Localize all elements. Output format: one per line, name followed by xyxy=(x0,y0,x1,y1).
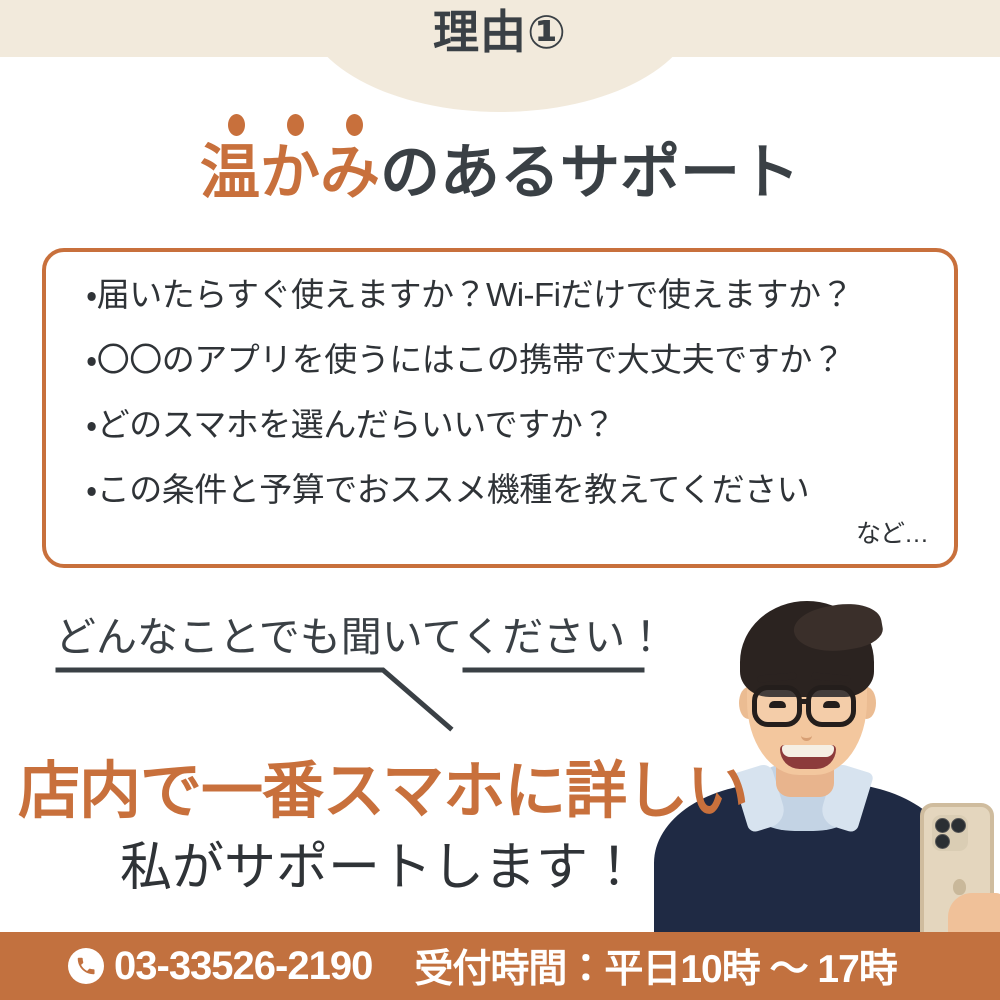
business-hours: 受付時間：平日10時 〜 17時 xyxy=(414,938,896,994)
emphasis-dot-2 xyxy=(287,114,304,136)
mouth xyxy=(780,745,836,769)
eye-left xyxy=(769,701,786,708)
camera-lens xyxy=(935,834,950,849)
headline-primary: 店内で一番スマホに詳しい xyxy=(18,740,748,830)
camera-lens xyxy=(935,818,950,833)
teeth xyxy=(782,745,834,757)
question-list: ・届いたらすぐ使えますか？Wi-Fiだけで使えますか？ ・〇〇のアプリを使うには… xyxy=(86,278,934,506)
reason-badge-label: 理由① xyxy=(0,8,1000,56)
speech-bubble-tail xyxy=(45,660,665,736)
main-heading-rest: のあるサポート xyxy=(380,139,800,206)
etcetera-note: など… xyxy=(856,514,928,550)
list-item: ・〇〇のアプリを使うにはこの携帯で大丈夫ですか？ xyxy=(86,343,934,376)
phone-number[interactable]: 03-33526-2190 xyxy=(114,944,372,989)
emphasis-dot-3 xyxy=(346,114,363,136)
headline-secondary: 私がサポートします！ xyxy=(120,825,640,900)
list-item: ・どのスマホを選んだらいいですか？ xyxy=(86,408,934,441)
phone-icon xyxy=(68,948,104,984)
footer-bar: 03-33526-2190 受付時間：平日10時 〜 17時 xyxy=(0,932,1000,1000)
emphasis-dots xyxy=(228,114,408,138)
question-box: ・届いたらすぐ使えますか？Wi-Fiだけで使えますか？ ・〇〇のアプリを使うには… xyxy=(42,248,958,568)
main-heading: 温かみのあるサポート xyxy=(0,140,1000,206)
camera-module xyxy=(932,815,968,851)
list-item: ・届いたらすぐ使えますか？Wi-Fiだけで使えますか？ xyxy=(86,278,934,311)
emphasis-dot-1 xyxy=(228,114,245,136)
callout-sub-line: どんなことでも聞いてください！ xyxy=(55,603,666,663)
camera-lens xyxy=(951,818,966,833)
footer-content: 03-33526-2190 受付時間：平日10時 〜 17時 xyxy=(68,938,897,994)
main-heading-accent: 温かみ xyxy=(200,139,380,206)
nose xyxy=(801,725,812,741)
eye-right xyxy=(823,701,840,708)
glasses-bridge xyxy=(800,699,810,704)
list-item: ・この条件と予算でおススメ機種を教えてください xyxy=(86,473,934,506)
poster-root: 理由① 温かみのあるサポート ・届いたらすぐ使えますか？Wi-Fiだけで使えます… xyxy=(0,0,1000,1000)
apple-logo-icon xyxy=(953,879,966,895)
